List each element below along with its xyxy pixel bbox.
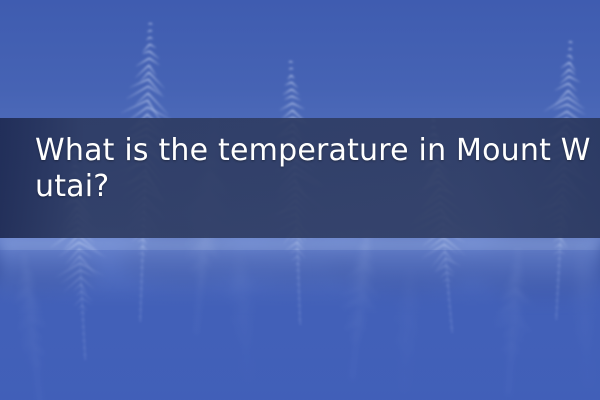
plume-frond [148, 71, 165, 89]
plume-frond [129, 78, 149, 88]
question-image-card: What is the temperature in Mount Wutai? [0, 0, 600, 400]
plume-frond [570, 41, 574, 45]
plume-frond [560, 62, 570, 70]
caption-question-text: What is the temperature in Mount Wutai? [35, 133, 595, 205]
plume-frond [568, 75, 580, 83]
plume-frond [286, 74, 292, 80]
plume-frond [560, 69, 570, 79]
plume-frond [125, 85, 149, 100]
plume-frond [291, 88, 300, 95]
plume-frond [149, 43, 157, 49]
plume-frond [567, 48, 571, 51]
plume-frond [569, 62, 576, 72]
plume-frond [279, 102, 293, 111]
plume-frond [150, 29, 154, 32]
plume-frond [291, 81, 299, 89]
plume-frond [148, 85, 163, 97]
plume-frond [569, 55, 574, 61]
plume-frond [570, 48, 574, 52]
plume-frond [567, 103, 587, 116]
plume-frond [139, 71, 149, 82]
plume-frond [567, 90, 579, 102]
plume-frond [568, 69, 576, 77]
plume-frond [149, 57, 161, 66]
plume-frond [292, 102, 305, 110]
plume-frond [142, 43, 151, 52]
plume-frond [554, 90, 569, 106]
plume-frond [148, 78, 165, 97]
plume-frond [292, 95, 302, 101]
foreground-color-wash [0, 250, 600, 400]
plume-frond [149, 50, 160, 60]
plume-frond [141, 50, 149, 55]
plume-frond [134, 64, 150, 79]
plume-frond [120, 99, 148, 114]
plume-frond [283, 81, 292, 86]
plume-frond [135, 57, 150, 67]
plume-frond [566, 54, 570, 57]
plume-frond [568, 83, 578, 92]
plume-frond [150, 22, 154, 25]
plume-frond [288, 67, 292, 70]
plume-frond [288, 60, 292, 63]
plume-frond [283, 95, 292, 101]
plume-frond [291, 67, 295, 70]
plume-frond [567, 96, 585, 110]
plume-frond [552, 103, 567, 111]
plume-frond [147, 29, 151, 33]
plume-frond [147, 92, 169, 115]
plume-frond [135, 92, 149, 105]
plume-frond [543, 96, 568, 112]
plume-frond [554, 82, 569, 91]
plume-frond [148, 64, 157, 76]
plume-frond [147, 22, 151, 25]
plume-frond [290, 60, 294, 63]
plume-frond [568, 41, 572, 44]
plume-frond [145, 36, 150, 41]
plume-frond [559, 76, 569, 85]
plume-frond [291, 74, 296, 79]
plume-frond [149, 36, 154, 40]
plume-frond [282, 88, 293, 96]
